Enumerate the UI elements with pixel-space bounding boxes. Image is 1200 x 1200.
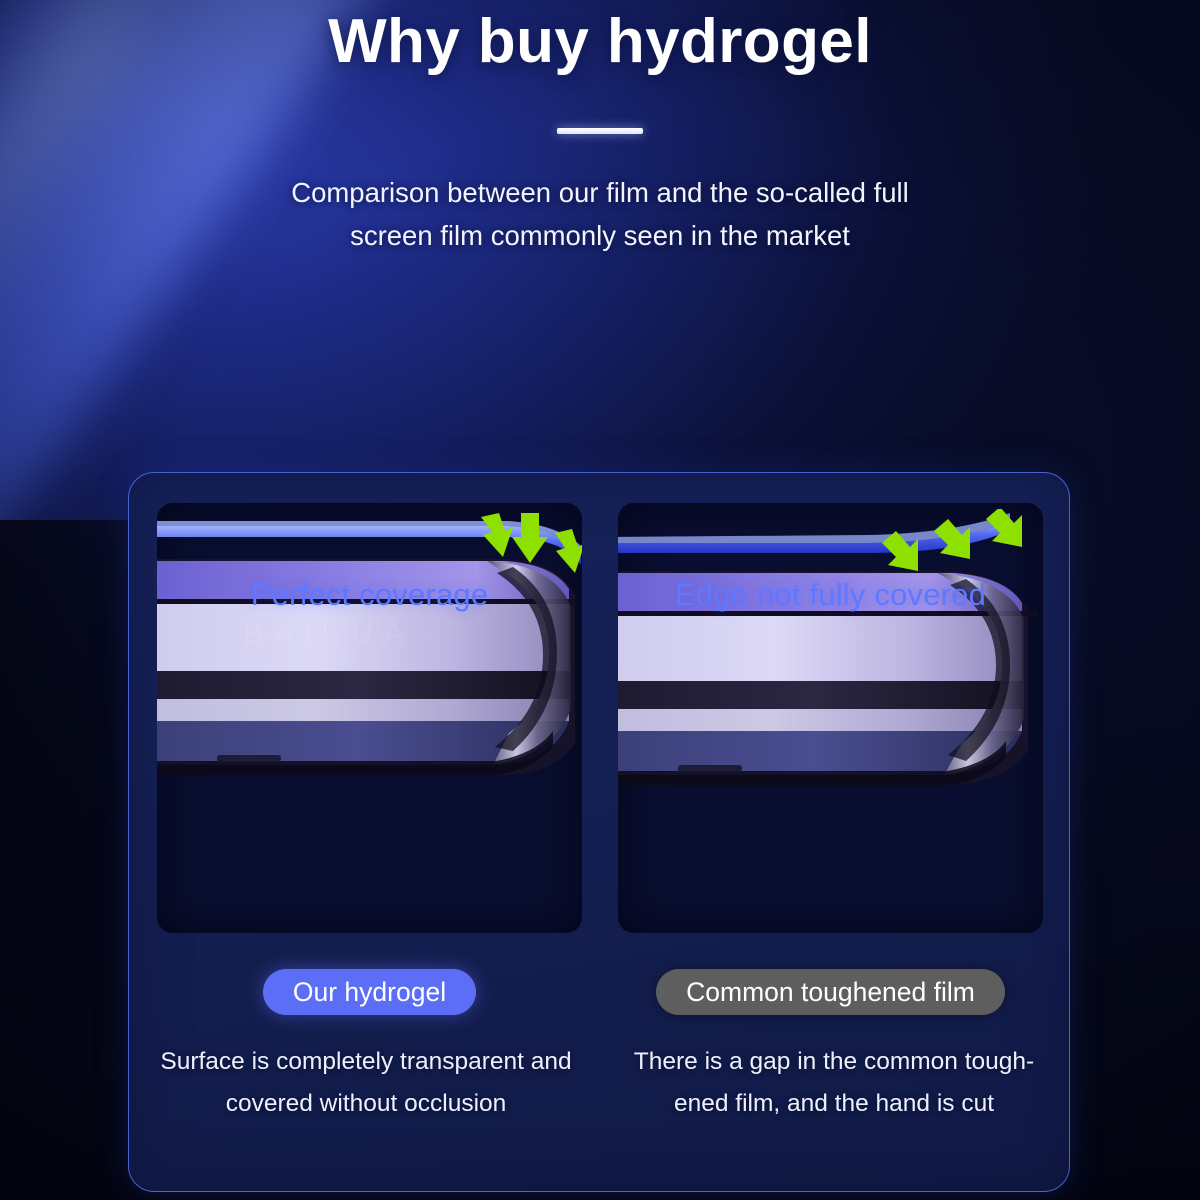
- pill-cell-left: Our hydrogel: [157, 969, 582, 1019]
- caption-left: Surface is completely transparent and co…: [143, 1041, 589, 1161]
- green-arrow-group-right: [876, 509, 1036, 587]
- panel-our-hydrogel: Perfect coverage: [157, 503, 582, 933]
- phone-illustration-left: BAIKUA: [157, 503, 582, 933]
- phone-illustration-right: [618, 503, 1043, 933]
- comparison-card: Perfect coverage: [128, 472, 1070, 1192]
- label-pill-row: Our hydrogel Common toughened film: [157, 969, 1043, 1019]
- pill-cell-right: Common toughened film: [618, 969, 1043, 1019]
- comparison-panels: Perfect coverage: [157, 503, 1043, 933]
- title-divider: [557, 128, 643, 134]
- panel-common-toughened-film: Edge not fully covered: [618, 503, 1043, 933]
- pill-our-hydrogel[interactable]: Our hydrogel: [263, 969, 476, 1015]
- svg-text:BAIKUA: BAIKUA: [243, 617, 413, 650]
- page-content: Why buy hydrogel Comparison between our …: [0, 0, 1200, 1200]
- caption-row: Surface is completely transparent and co…: [143, 1041, 1057, 1161]
- caption-right: There is a gap in the common tough- ened…: [611, 1041, 1057, 1161]
- pill-common-toughened-film[interactable]: Common toughened film: [656, 969, 1005, 1015]
- caption-left-line-2: covered without occlusion: [143, 1083, 589, 1125]
- caption-right-line-1: There is a gap in the common tough-: [611, 1041, 1057, 1083]
- caption-left-line-1: Surface is completely transparent and: [143, 1041, 589, 1083]
- page-title: Why buy hydrogel: [0, 6, 1200, 77]
- subtitle-line-2: screen film commonly seen in the market: [0, 215, 1200, 258]
- panel-title-left: Perfect coverage: [157, 577, 582, 613]
- green-arrow-group-left: [475, 511, 582, 581]
- subtitle-line-1: Comparison between our film and the so-c…: [0, 172, 1200, 215]
- caption-right-line-2: ened film, and the hand is cut: [611, 1083, 1057, 1125]
- page-subtitle: Comparison between our film and the so-c…: [0, 172, 1200, 257]
